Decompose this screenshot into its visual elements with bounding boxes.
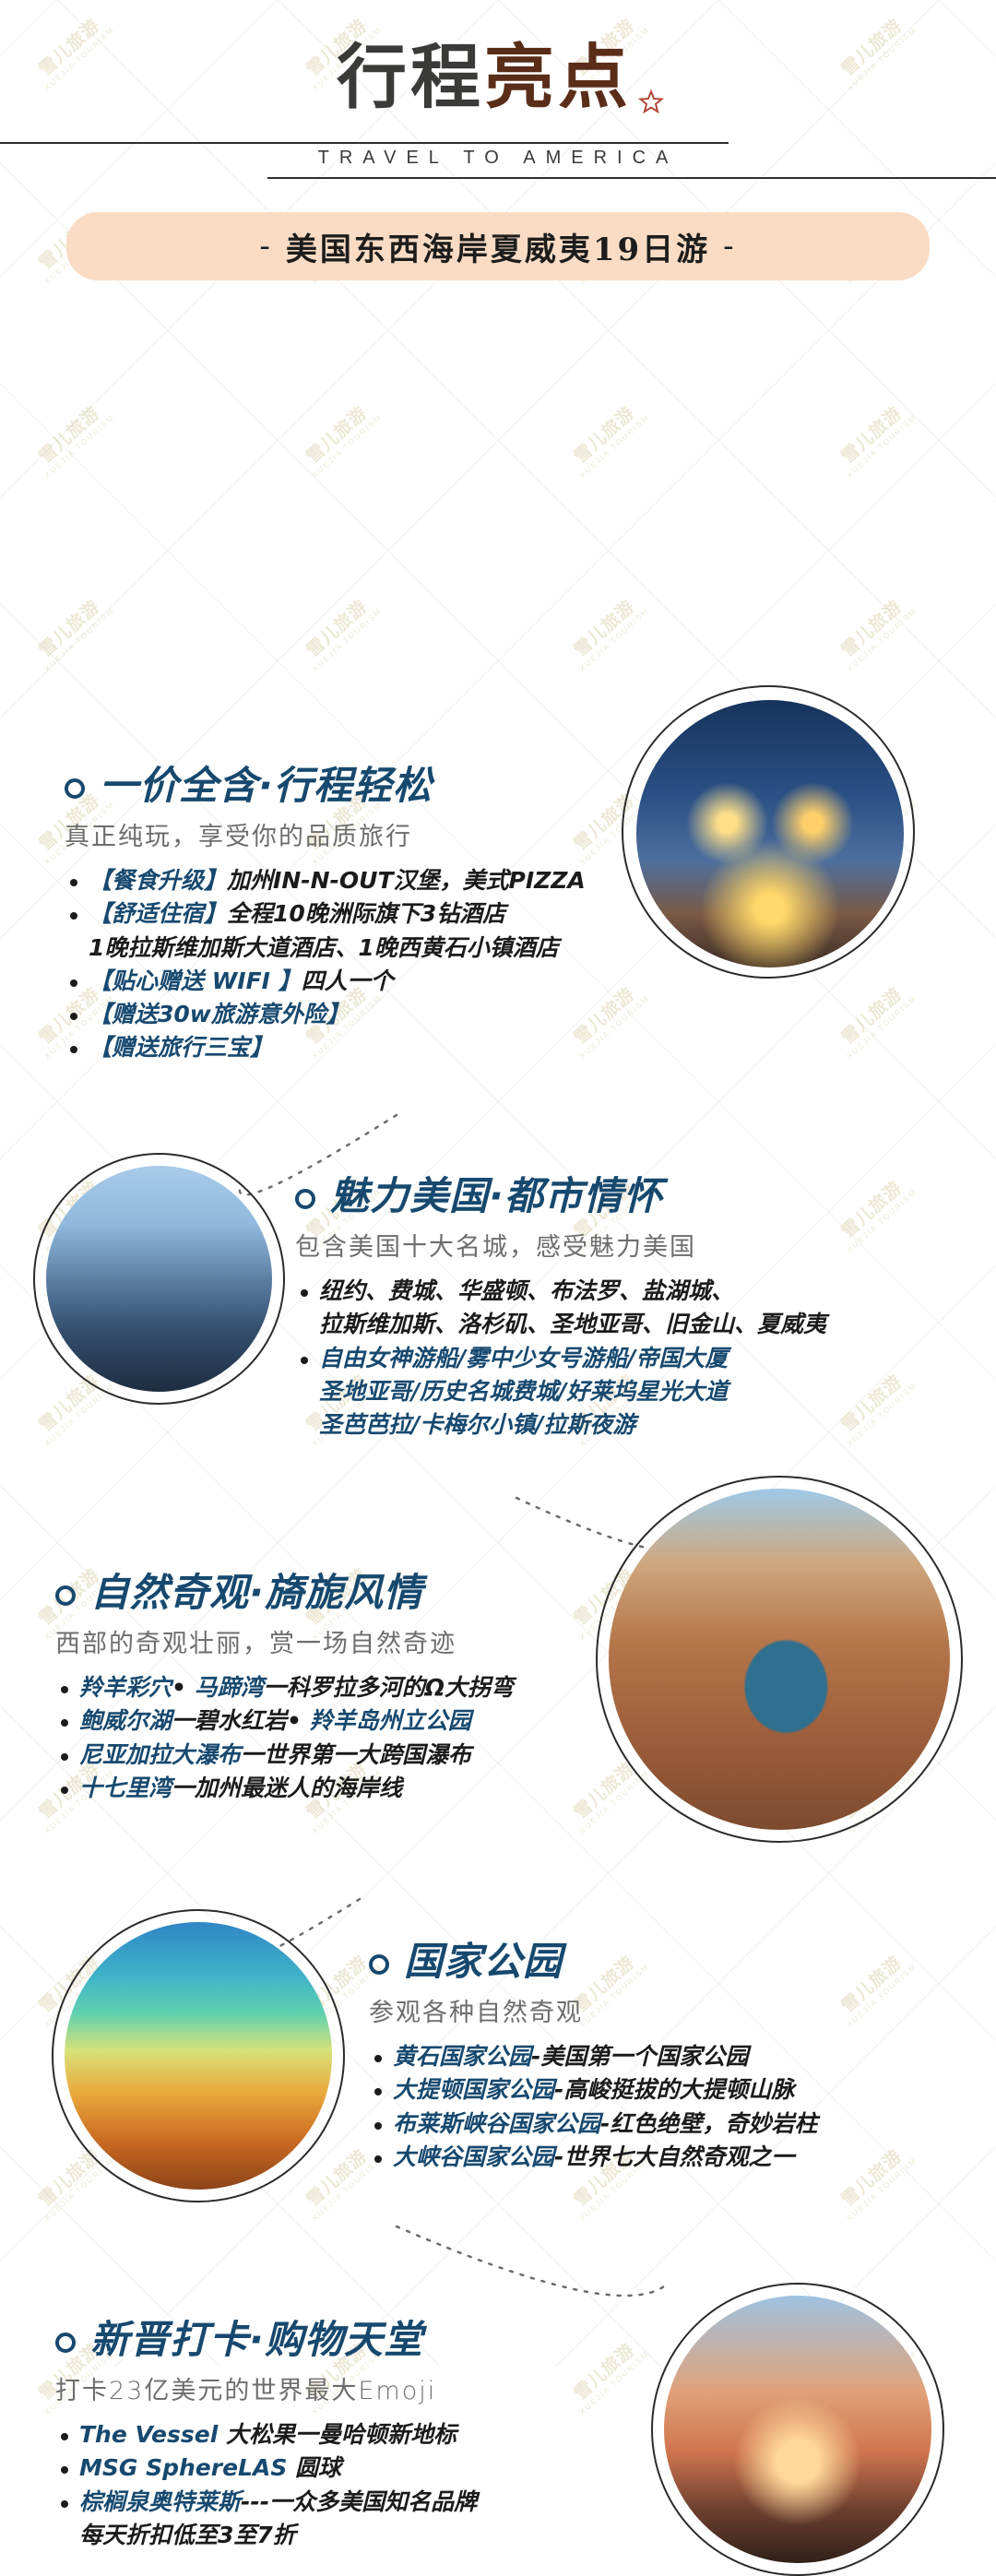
- bullet-item: 十七里湾一加州最迷人的海岸线: [55, 1773, 682, 1803]
- bullet-item: 圣地亚哥/历史名城费城/好莱坞星光大道: [295, 1376, 941, 1407]
- bullet-item: 【贴心赠送 WIFI 】四人一个: [65, 966, 618, 996]
- bullet-item: 【赠送旅行三宝】: [65, 1032, 618, 1062]
- section-all-inclusive: 一价全含·行程轻松真正纯玩，享受你的品质旅行【餐食升级】加州IN-N-OUT汉堡…: [65, 765, 618, 1066]
- watermark: 雪儿旅游XUEJIA TOURISM: [832, 591, 919, 673]
- section-subtitle: 打卡23亿美元的世界最大Emoji: [55, 2370, 646, 2406]
- bullet-rest: ---一众多美国知名品牌: [241, 2488, 477, 2515]
- grand-prismatic-spring-photo: [65, 1922, 332, 2190]
- bullet-item: 【赠送30w旅游意外险】: [65, 999, 618, 1029]
- section-heading-group: 国家公园参观各种自然奇观: [369, 1941, 959, 2028]
- bullet-ring-icon: [369, 1954, 389, 1975]
- photo-image: [46, 1166, 272, 1392]
- rule-line-bottom: [267, 177, 996, 179]
- bullet-item: 黄石国家公园-美国第一个国家公园: [369, 2041, 959, 2071]
- section-new-checkin: 新晋打卡·购物天堂打卡23亿美元的世界最大EmojiThe Vessel 大松果…: [55, 2319, 646, 2553]
- bullet-lead: 十七里湾: [79, 1775, 172, 1801]
- bullet-lead: 黄石国家公园: [393, 2043, 531, 2070]
- bullet-rest: 一加州最迷人的海岸线: [172, 1775, 402, 1801]
- bullet-item: The Vessel 大松果一曼哈顿新地标: [55, 2419, 646, 2450]
- bullet-item: 大提顿国家公园-高峻挺拔的大提顿山脉: [369, 2074, 959, 2105]
- bullet-lead-2: 羚羊岛州立公园: [310, 1707, 471, 1734]
- bullet-item: 鲍威尔湖一碧水红岩• 羚羊岛州立公园: [55, 1705, 682, 1736]
- section-bullet-list: The Vessel 大松果一曼哈顿新地标MSG SphereLAS 圆球棕榈泉…: [55, 2419, 646, 2550]
- bullet-lead: 鲍威尔湖: [79, 1707, 172, 1734]
- section-bullet-list: 羚羊彩穴• 马蹄湾一科罗拉多河的Ω大拐弯鲍威尔湖一碧水红岩• 羚羊岛州立公园尼亚…: [55, 1672, 682, 1803]
- bullet-rest: -红色绝壁，奇妙岩柱: [600, 2110, 817, 2137]
- section-subtitle: 包含美国十大名城，感受魅力美国: [295, 1227, 941, 1263]
- watermark: 雪儿旅游XUEJIA TOURISM: [564, 591, 651, 673]
- tour-banner: - 美国东西海岸夏威夷19日游 -: [66, 212, 930, 280]
- section-bullet-list: 【餐食升级】加州IN-N-OUT汉堡，美式PIZZA【舒适住宿】全程10晚洲际旗…: [65, 865, 618, 1063]
- section-heading-group: 新晋打卡·购物天堂打卡23亿美元的世界最大Emoji: [55, 2319, 646, 2406]
- bullet-lead: 布莱斯峡谷国家公园: [393, 2110, 600, 2137]
- bullet-lead: 羚羊彩穴: [79, 1674, 172, 1701]
- page-title: 行程亮点: [0, 42, 996, 113]
- bullet-item: 每天折扣低至3至7折: [55, 2520, 646, 2550]
- subtitle-en: TRAVEL TO AMERICA: [0, 148, 996, 169]
- section-title: 魅力美国·都市情怀: [330, 1175, 663, 1217]
- bullet-lead: 【赠送30w旅游意外险】: [89, 1001, 350, 1027]
- bullet-item: 羚羊彩穴• 马蹄湾一科罗拉多河的Ω大拐弯: [55, 1672, 682, 1703]
- bullet-rest: 加州IN-N-OUT汉堡，美式PIZZA: [227, 867, 586, 894]
- bullet-item: 纽约、费城、华盛顿、布法罗、盐湖城、: [295, 1276, 941, 1306]
- bullet-ring-icon: [65, 778, 85, 799]
- bullet-rest: 四人一个: [302, 967, 394, 994]
- bullet-item: 大峡谷国家公园-世界七大自然奇观之一: [369, 2142, 959, 2172]
- bullet-item: 1晚拉斯维加斯大道酒店、1晚西黄石小镇酒店: [65, 932, 618, 963]
- banner-dash-right: -: [723, 228, 737, 265]
- photo-image: [636, 700, 904, 967]
- section-title: 一价全含·行程轻松: [100, 765, 433, 807]
- bullet-lead: 圣地亚哥/历史名城费城/好莱坞星光大道: [319, 1378, 728, 1405]
- bullet-lead-2: 马蹄湾: [195, 1674, 264, 1701]
- section-heading-line: 魅力美国·都市情怀: [295, 1175, 941, 1217]
- bullet-rest: 拉斯维加斯、洛杉矶、圣地亚哥、旧金山、夏威夷: [319, 1311, 826, 1337]
- bullet-rest-2: 一科罗拉多河的Ω大拐弯: [264, 1674, 514, 1701]
- star-icon: [637, 89, 665, 116]
- section-subtitle: 西部的奇观壮丽，赏一场自然奇迹: [55, 1623, 682, 1659]
- rule-line-top: [0, 142, 729, 144]
- bullet-item: 布莱斯峡谷国家公园-红色绝壁，奇妙岩柱: [369, 2108, 959, 2139]
- section-heading-line: 一价全含·行程轻松: [65, 765, 618, 807]
- banner-wrapper: - 美国东西海岸夏威夷19日游 -: [0, 212, 996, 280]
- bullet-item: 【舒适住宿】全程10晚洲际旗下3钻酒店: [65, 898, 618, 929]
- bullet-rest: 圆球: [287, 2454, 341, 2481]
- bullet-rest: 每天折扣低至3至7折: [79, 2522, 296, 2548]
- bullet-item: 【餐食升级】加州IN-N-OUT汉堡，美式PIZZA: [65, 865, 618, 896]
- watermark: 雪儿旅游XUEJIA TOURISM: [30, 2141, 116, 2223]
- section-natural-wonders: 自然奇观·旖旎风情西部的奇观壮丽，赏一场自然奇迹羚羊彩穴• 马蹄湾一科罗拉多河的…: [55, 1572, 682, 1806]
- subtitle-rule: TRAVEL TO AMERICA: [0, 133, 996, 186]
- bullet-lead: 【餐食升级】: [89, 867, 227, 894]
- watermark: 雪儿旅游XUEJIA TOURISM: [832, 398, 919, 480]
- new-york-skyline-photo: [46, 1166, 272, 1392]
- section-heading-line: 新晋打卡·购物天堂: [55, 2319, 646, 2361]
- bullet-item: 圣芭芭拉/卡梅尔小镇/拉斯夜游: [295, 1409, 941, 1440]
- bullet-lead: 【舒适住宿】: [89, 900, 227, 927]
- bullet-rest: 纽约、费城、华盛顿、布法罗、盐湖城、: [319, 1277, 734, 1304]
- section-title: 国家公园: [404, 1941, 563, 1983]
- bullet-item: 棕榈泉奥特莱斯---一众多美国知名品牌: [55, 2487, 646, 2517]
- watermark: 雪儿旅游XUEJIA TOURISM: [30, 398, 116, 480]
- watermark: 雪儿旅游XUEJIA TOURISM: [297, 591, 384, 673]
- bullet-lead: 【赠送旅行三宝】: [89, 1034, 273, 1061]
- watermark: 雪儿旅游XUEJIA TOURISM: [30, 1366, 116, 1448]
- bullet-rest: -美国第一个国家公园: [531, 2043, 748, 2070]
- watermark: 雪儿旅游XUEJIA TOURISM: [297, 398, 384, 480]
- section-heading-group: 一价全含·行程轻松真正纯玩，享受你的品质旅行: [65, 765, 618, 852]
- bullet-item: 拉斯维加斯、洛杉矶、圣地亚哥、旧金山、夏威夷: [295, 1309, 941, 1339]
- bullet-lead: 圣芭芭拉/卡梅尔小镇/拉斯夜游: [319, 1411, 635, 1438]
- bullet-lead: 尼亚加拉大瀑布: [79, 1741, 241, 1768]
- palm-springs-arch-photo: [664, 2296, 931, 2563]
- watermark: 雪儿旅游XUEJIA TOURISM: [832, 979, 919, 1061]
- bullet-lead: 棕榈泉奥特莱斯: [79, 2488, 241, 2515]
- bullet-rest: -高峻挺拔的大提顿山脉: [554, 2076, 794, 2103]
- bullet-rest: 全程10晚洲际旗下3钻酒店: [227, 900, 505, 927]
- bullet-rest: 一碧水红岩•: [172, 1707, 310, 1734]
- bullet-rest: •: [172, 1674, 195, 1701]
- bullet-rest: -世界七大自然奇观之一: [554, 2143, 794, 2170]
- bullet-lead: 自由女神游船/雾中少女号游船/帝国大厦: [319, 1345, 728, 1371]
- photo-image: [65, 1922, 332, 2190]
- section-heading-group: 魅力美国·都市情怀包含美国十大名城，感受魅力美国: [295, 1175, 941, 1263]
- bullet-rest: 1晚拉斯维加斯大道酒店、1晚西黄石小镇酒店: [89, 934, 559, 961]
- section-national-parks: 国家公园参观各种自然奇观黄石国家公园-美国第一个国家公园大提顿国家公园-高峻挺拔…: [369, 1941, 959, 2175]
- page-title-part1: 行程: [337, 36, 484, 118]
- section-heading-line: 自然奇观·旖旎风情: [55, 1572, 682, 1614]
- section-title: 新晋打卡·购物天堂: [90, 2319, 423, 2361]
- bullet-item: MSG SphereLAS 圆球: [55, 2452, 646, 2483]
- bullet-item: 尼亚加拉大瀑布一世界第一大跨国瀑布: [55, 1739, 682, 1770]
- bullet-lead: 【贴心赠送 WIFI 】: [89, 967, 302, 994]
- bullet-lead: The Vessel: [79, 2421, 218, 2448]
- bullet-ring-icon: [295, 1189, 315, 1209]
- bullet-item: 自由女神游船/雾中少女号游船/帝国大厦: [295, 1343, 941, 1373]
- bullet-ring-icon: [55, 2333, 76, 2353]
- bullet-lead: MSG SphereLAS: [79, 2454, 287, 2481]
- watermark: 雪儿旅游XUEJIA TOURISM: [30, 591, 116, 673]
- section-bullet-list: 纽约、费城、华盛顿、布法罗、盐湖城、拉斯维加斯、洛杉矶、圣地亚哥、旧金山、夏威夷…: [295, 1276, 941, 1440]
- las-vegas-sign-photo: [636, 700, 904, 967]
- bullet-lead: 大峡谷国家公园: [393, 2143, 554, 2170]
- page-title-part2: 亮点: [484, 36, 632, 118]
- page-header: 行程亮点 TRAVEL TO AMERICA - 美国东西海岸夏威夷19日游 -: [0, 0, 996, 280]
- banner-dash-left: -: [259, 228, 273, 265]
- bullet-ring-icon: [55, 1585, 76, 1606]
- section-heading-group: 自然奇观·旖旎风情西部的奇观壮丽，赏一场自然奇迹: [55, 1572, 682, 1659]
- watermark: 雪儿旅游XUEJIA TOURISM: [564, 398, 651, 480]
- section-bullet-list: 黄石国家公园-美国第一个国家公园大提顿国家公园-高峻挺拔的大提顿山脉布莱斯峡谷国…: [369, 2041, 959, 2172]
- banner-title: 美国东西海岸夏威夷19日游: [286, 224, 710, 269]
- section-subtitle: 真正纯玩，享受你的品质旅行: [65, 816, 618, 852]
- photo-image: [664, 2296, 931, 2563]
- section-heading-line: 国家公园: [369, 1941, 959, 1983]
- section-subtitle: 参观各种自然奇观: [369, 1992, 959, 2028]
- bullet-lead: 大提顿国家公园: [393, 2076, 554, 2103]
- section-title: 自然奇观·旖旎风情: [90, 1572, 423, 1614]
- bullet-rest: 一世界第一大跨国瀑布: [241, 1741, 471, 1768]
- bullet-rest: 大松果一曼哈顿新地标: [218, 2421, 456, 2448]
- section-charming-usa: 魅力美国·都市情怀包含美国十大名城，感受魅力美国纽约、费城、华盛顿、布法罗、盐湖…: [295, 1175, 941, 1442]
